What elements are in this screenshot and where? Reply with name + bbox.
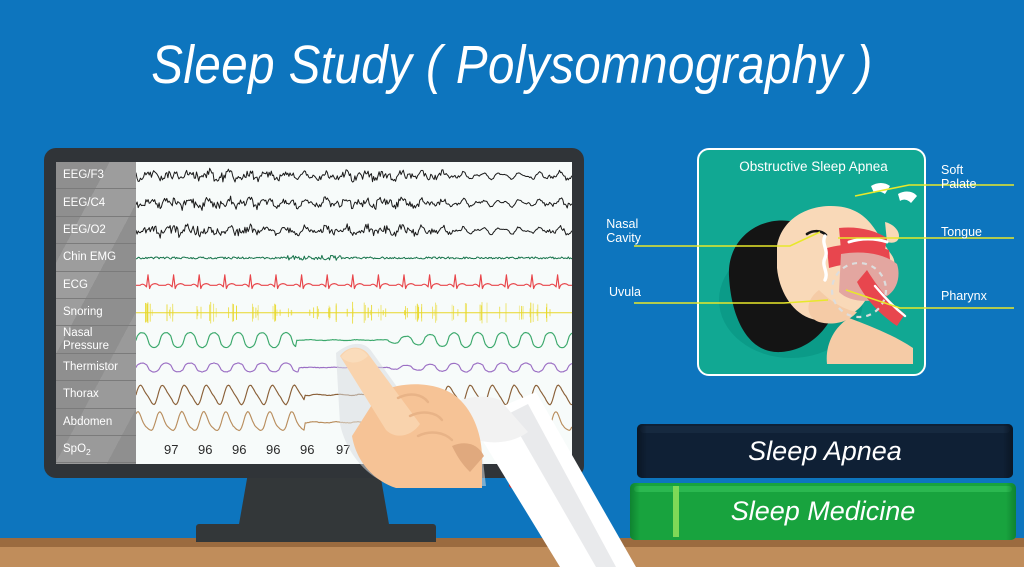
book-left-edge <box>637 424 647 478</box>
label-nasal-cavity: NasalCavity <box>606 217 641 245</box>
leader-pharynx <box>846 290 1014 308</box>
book-spine-stripe <box>673 486 679 537</box>
label-pharynx: Pharynx <box>941 289 987 303</box>
leader-nasal-cavity <box>634 232 820 246</box>
label-tongue: Tongue <box>941 225 982 239</box>
book-sleep-medicine[interactable]: Sleep Medicine <box>630 483 1016 540</box>
book-top-edge <box>634 486 1012 492</box>
leader-soft-palate <box>855 185 1014 196</box>
label-uvula: Uvula <box>609 285 641 299</box>
book-right-edge <box>1003 424 1013 478</box>
infographic-canvas: Sleep Study ( Polysomnography ) 97969696… <box>0 0 1024 567</box>
book-sleep-apnea[interactable]: Sleep Apnea <box>637 424 1013 478</box>
book-left-edge <box>630 483 640 540</box>
anatomy-leader-lines <box>0 0 1024 567</box>
book-right-edge <box>1006 483 1016 540</box>
book-top-edge <box>640 426 1010 433</box>
book-title: Sleep Medicine <box>731 496 916 527</box>
book-title: Sleep Apnea <box>748 436 902 467</box>
label-soft-palate: SoftPalate <box>941 163 976 191</box>
leader-uvula <box>634 300 828 303</box>
